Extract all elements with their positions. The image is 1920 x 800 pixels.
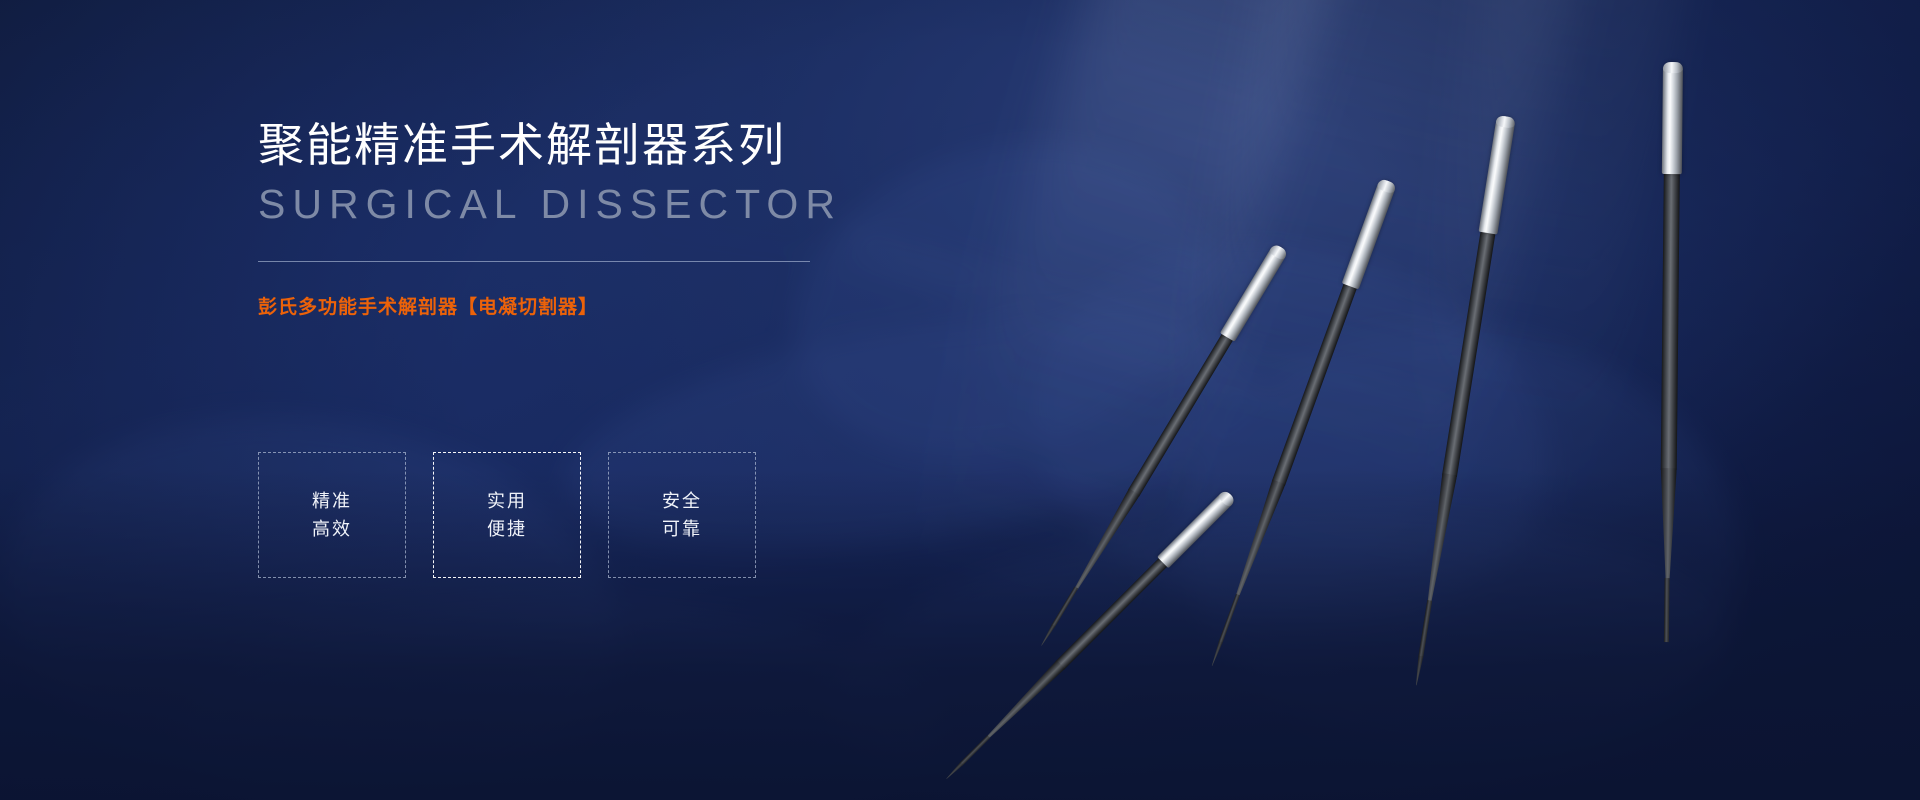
probe-needle <box>1051 586 1078 627</box>
probe-shaft <box>1055 555 1170 670</box>
probe-taper <box>1070 488 1140 592</box>
probe-tip <box>1040 624 1056 647</box>
probe-metal-handle <box>1157 489 1236 568</box>
feature-box-safety: 安全 可靠 <box>608 452 756 578</box>
feature-box-precision: 精准 高效 <box>258 452 406 578</box>
probe-metal-handle <box>1479 115 1516 235</box>
feature-box-practical: 实用 便捷 <box>433 452 581 578</box>
probe-needle <box>959 735 990 766</box>
probe-taper <box>1660 468 1677 580</box>
page-subtitle-english: SURGICAL DISSECTOR <box>258 180 958 228</box>
probe-taper <box>983 660 1065 742</box>
feature-line-2: 高效 <box>312 520 352 538</box>
probe-tip <box>945 762 963 780</box>
probe-metal-handle <box>1220 243 1289 342</box>
title-divider <box>258 261 810 262</box>
probe-tip <box>1414 655 1424 685</box>
feature-line-1: 实用 <box>487 492 527 510</box>
feature-line-2: 便捷 <box>487 520 527 538</box>
probe-needle <box>1418 600 1432 658</box>
probe-shaft <box>1128 331 1235 497</box>
probe-needle <box>1664 578 1670 642</box>
feature-line-2: 可靠 <box>662 520 702 538</box>
probe-tip <box>1210 641 1223 667</box>
banner-copy: 聚能精准手术解剖器系列 SURGICAL DISSECTOR 彭氏多功能手术解剖… <box>258 118 958 319</box>
page-title: 聚能精准手术解剖器系列 <box>258 118 958 172</box>
probe-metal-handle <box>1342 178 1397 289</box>
probe-shaft <box>1272 280 1358 486</box>
feature-box-group: 精准 高效 实用 便捷 安全 可靠 <box>258 452 756 578</box>
feature-line-1: 安全 <box>662 492 702 510</box>
probe-taper <box>1422 473 1457 604</box>
probe-shaft <box>1661 170 1680 470</box>
feature-line-1: 精准 <box>312 492 352 510</box>
probe-metal-handle <box>1662 62 1683 174</box>
product-banner: 聚能精准手术解剖器系列 SURGICAL DISSECTOR 彭氏多功能手术解剖… <box>0 0 1920 800</box>
product-name-label: 彭氏多功能手术解剖器【电凝切割器】 <box>258 292 958 319</box>
probe-shaft <box>1442 228 1496 477</box>
probe-taper <box>1231 479 1286 598</box>
probe-needle <box>1218 594 1240 644</box>
